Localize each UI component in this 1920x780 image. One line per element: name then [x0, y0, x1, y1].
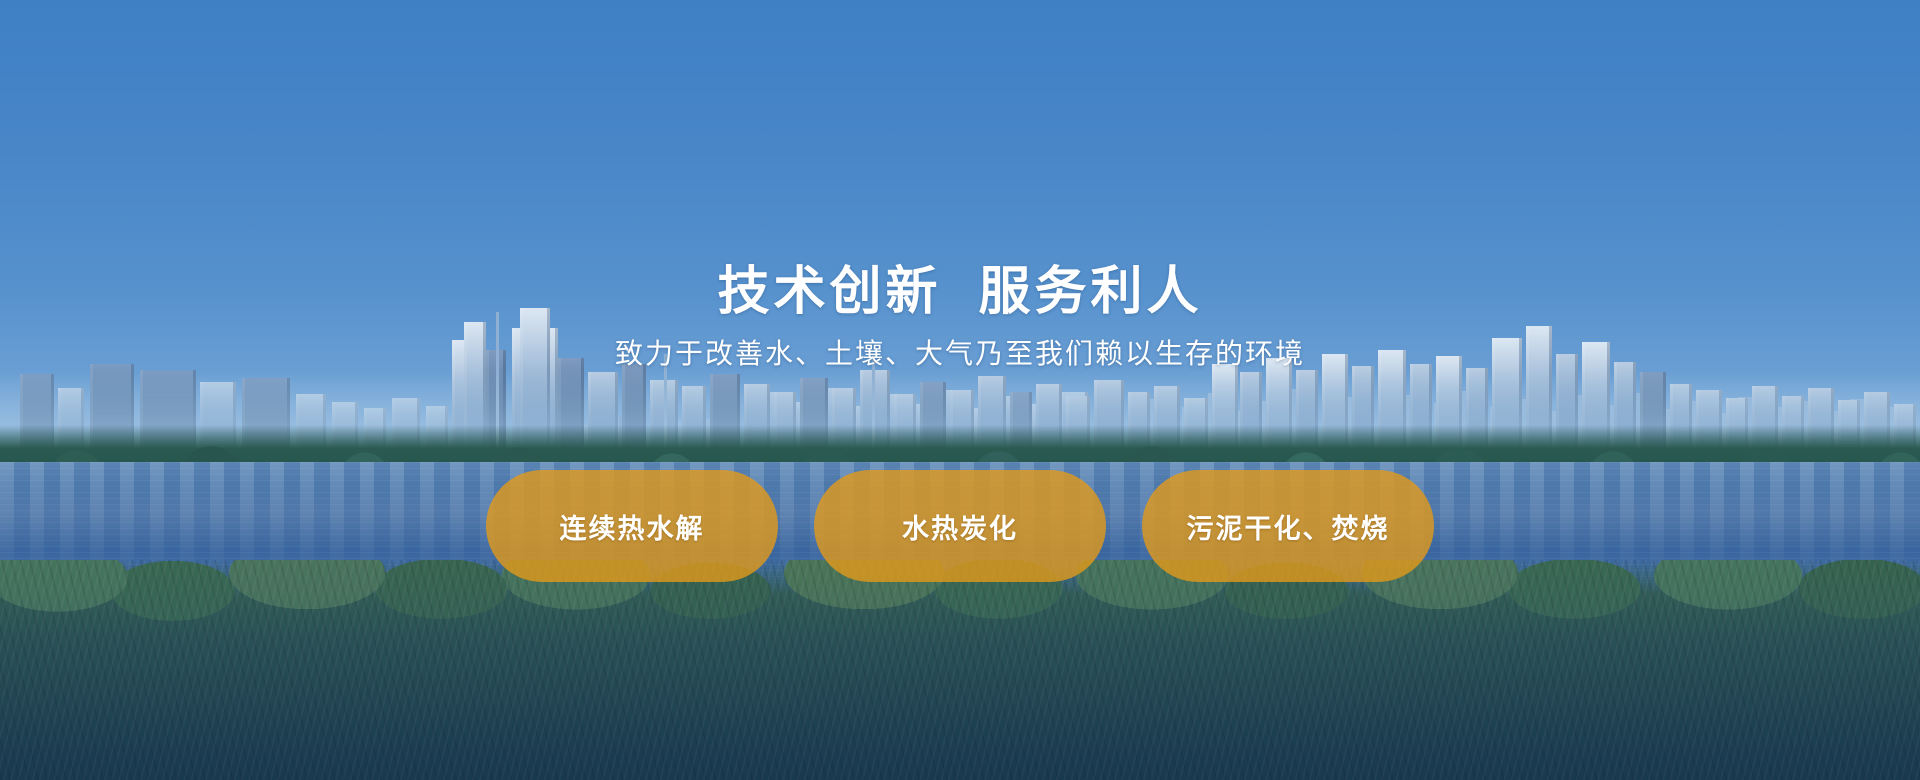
page-title: 技术创新 服务利人 [0, 262, 1920, 322]
page-subtitle: 致力于改善水、土壤、大气乃至我们赖以生存的环境 [0, 336, 1920, 372]
pill-button-label: 污泥干化、焚烧 [1187, 507, 1390, 546]
hero-banner: 技术创新 服务利人 致力于改善水、土壤、大气乃至我们赖以生存的环境 连续热水解 … [0, 0, 1920, 780]
pill-button-continuous-thermal-hydrolysis[interactable]: 连续热水解 [486, 470, 778, 582]
pill-button-label: 水热炭化 [902, 507, 1018, 546]
hero-copy: 技术创新 服务利人 致力于改善水、土壤、大气乃至我们赖以生存的环境 [0, 262, 1920, 373]
hero-button-group: 连续热水解 水热炭化 污泥干化、焚烧 [0, 470, 1920, 582]
foreground-vegetation [0, 560, 1920, 780]
pill-button-sludge-drying-incineration[interactable]: 污泥干化、焚烧 [1142, 470, 1434, 582]
pill-button-label: 连续热水解 [560, 507, 705, 546]
pill-button-hydrothermal-carbonization[interactable]: 水热炭化 [814, 470, 1106, 582]
